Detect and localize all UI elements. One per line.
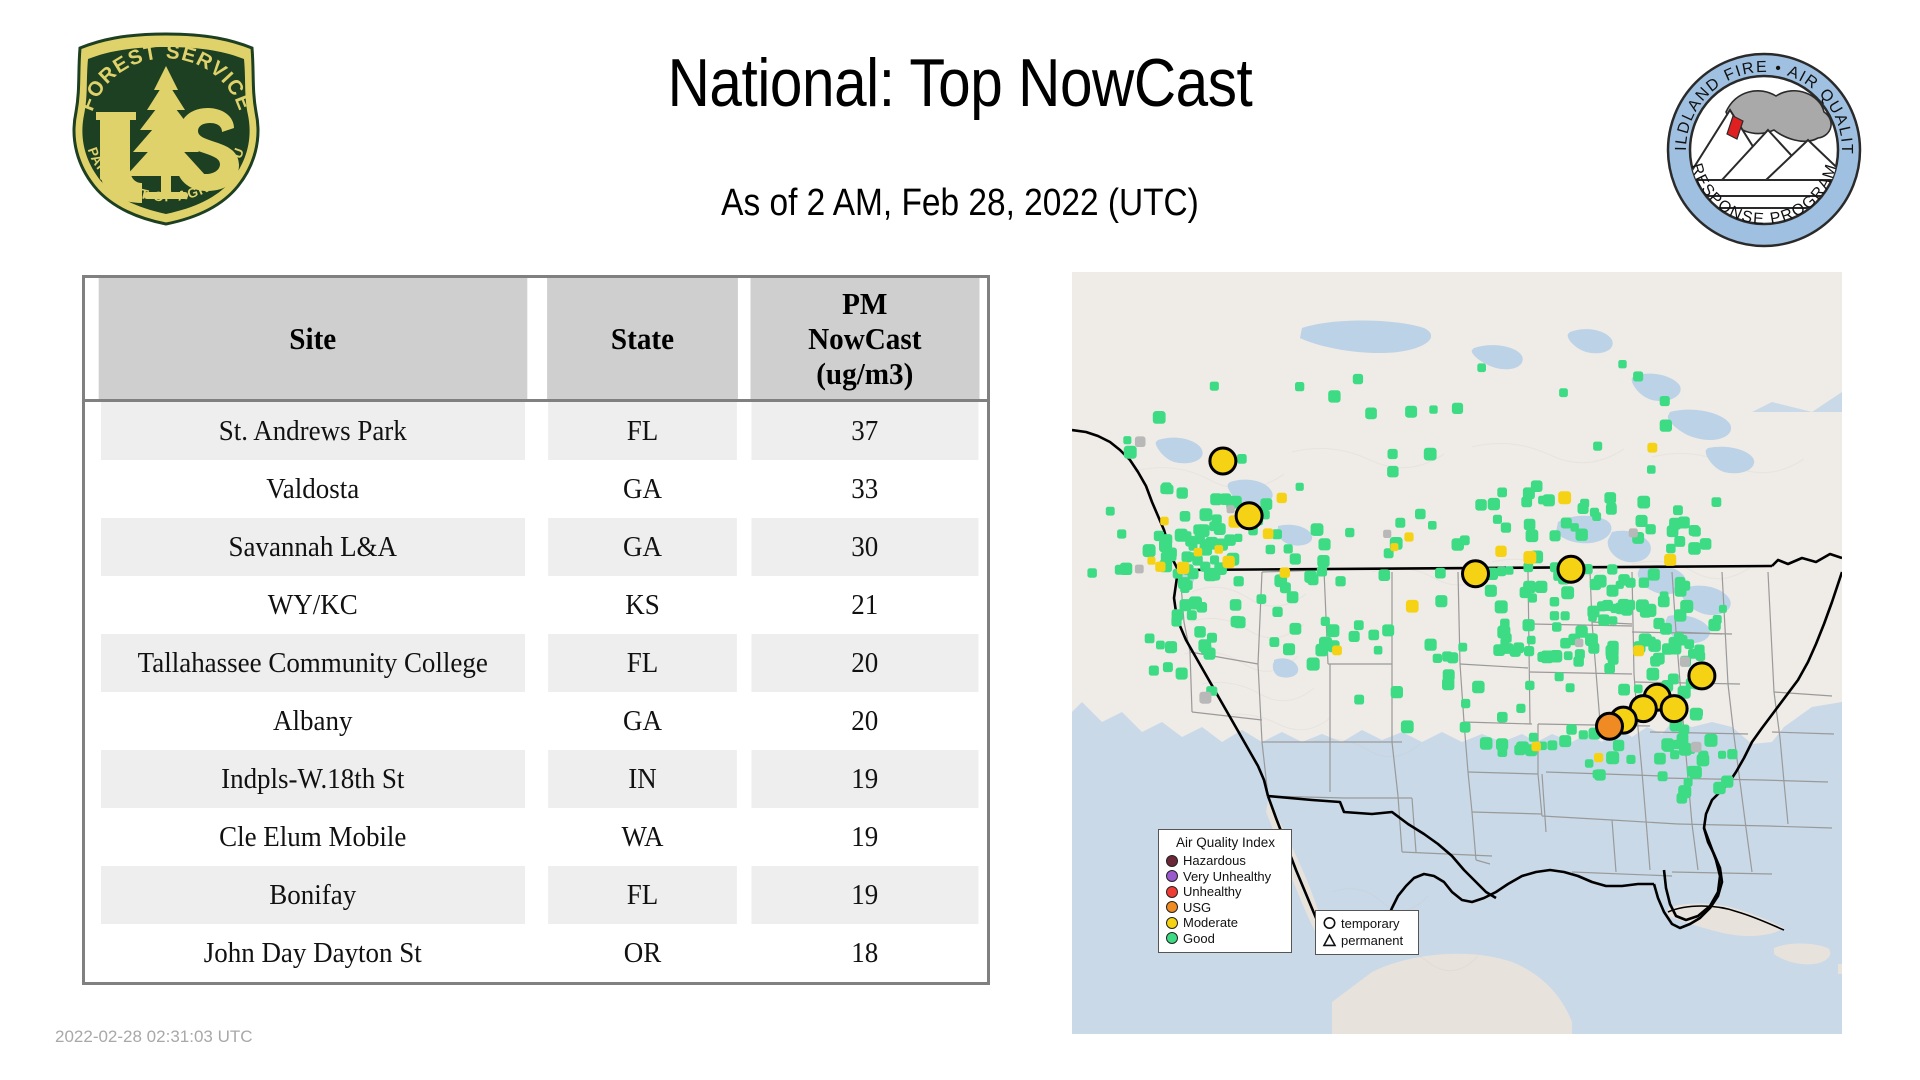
- monitor-dot-moderate[interactable]: [1147, 557, 1155, 565]
- monitor-dot-good[interactable]: [1477, 363, 1486, 372]
- monitor-dot-good[interactable]: [1561, 518, 1572, 529]
- monitor-dot-good[interactable]: [1606, 645, 1619, 658]
- monitor-dot-good[interactable]: [1391, 686, 1403, 698]
- monitor-dot-good[interactable]: [1177, 487, 1188, 498]
- monitor-dot-good[interactable]: [1573, 656, 1584, 667]
- monitor-dot-good[interactable]: [1559, 388, 1568, 397]
- monitor-dot-good[interactable]: [1505, 566, 1514, 575]
- monitor-dot-moderate[interactable]: [1332, 646, 1342, 656]
- monitor-dot-good[interactable]: [1647, 637, 1656, 646]
- monitor-dot-good[interactable]: [1606, 504, 1617, 515]
- aqi-monitor-map[interactable]: Air Quality Index Hazardous Very Unhealt…: [1072, 272, 1842, 1034]
- aqi-legend-title: Air Quality Index: [1166, 835, 1285, 850]
- monitor-dot-good[interactable]: [1547, 740, 1557, 750]
- monitor-dot-good[interactable]: [1149, 666, 1159, 676]
- monitor-dot-good[interactable]: [1452, 403, 1463, 414]
- good-swatch-icon: [1166, 932, 1178, 944]
- cell-value: 19: [752, 750, 978, 808]
- monitor-dot-good[interactable]: [1260, 498, 1272, 510]
- monitor-dot-good[interactable]: [1176, 668, 1188, 680]
- monitor-dot-good[interactable]: [1668, 674, 1679, 685]
- monitor-dot-good[interactable]: [1679, 743, 1692, 756]
- monitor-dot-good[interactable]: [1495, 600, 1508, 613]
- monitor-dot-good[interactable]: [1234, 576, 1244, 586]
- legend-label-good: Good: [1183, 932, 1215, 945]
- legend-label-moderate: Moderate: [1183, 916, 1238, 929]
- monitor-dot-good[interactable]: [1643, 604, 1656, 617]
- monitor-dot-good[interactable]: [1312, 524, 1324, 536]
- monitor-dot-good[interactable]: [1535, 581, 1547, 593]
- monitor-dot-good[interactable]: [1210, 382, 1219, 391]
- monitor-dot-good[interactable]: [1636, 515, 1648, 527]
- usg-swatch-icon: [1166, 901, 1178, 913]
- monitor-dot-good[interactable]: [1180, 511, 1191, 522]
- monitor-dot-good[interactable]: [1428, 521, 1437, 530]
- monitor-dot-offline[interactable]: [1227, 505, 1235, 513]
- monitor-dot-good[interactable]: [1721, 776, 1733, 788]
- monitor-dot-good[interactable]: [1593, 442, 1602, 451]
- monitor-dot-good[interactable]: [1529, 733, 1538, 742]
- monitor-dot-good[interactable]: [1521, 497, 1532, 508]
- monitor-dot-good[interactable]: [1537, 652, 1547, 662]
- monitor-dot-moderate[interactable]: [1523, 551, 1536, 564]
- monitor-dot-good[interactable]: [1661, 738, 1674, 751]
- monitor-dot-good[interactable]: [1576, 529, 1588, 541]
- monitor-dot-good[interactable]: [1382, 624, 1394, 636]
- monitor-dot-good[interactable]: [1501, 523, 1511, 533]
- monitor-dot-good[interactable]: [1117, 529, 1126, 538]
- monitor-dot-good[interactable]: [1230, 599, 1242, 611]
- monitor-dot-good[interactable]: [1447, 652, 1458, 663]
- monitor-dot-offline[interactable]: [1135, 565, 1144, 574]
- monitor-dot-good[interactable]: [1516, 704, 1525, 713]
- column-header-pm-line3: (ug/m3): [751, 356, 980, 391]
- legend-label-usg: USG: [1183, 901, 1211, 914]
- monitor-dot-good[interactable]: [1675, 577, 1686, 588]
- monitor-dot-good[interactable]: [1194, 626, 1206, 638]
- column-header-site-label: Site: [289, 321, 336, 356]
- monitor-dot-good[interactable]: [1401, 720, 1414, 733]
- monitor-dot-good[interactable]: [1626, 578, 1636, 588]
- monitor-dot-good[interactable]: [1691, 526, 1701, 536]
- monitor-dot-good[interactable]: [1604, 663, 1615, 674]
- monitor-dot-good[interactable]: [1087, 568, 1097, 578]
- monitor-dot-good[interactable]: [1667, 525, 1679, 537]
- monitor-dot-moderate[interactable]: [1633, 645, 1644, 656]
- monitor-dot-good[interactable]: [1368, 630, 1379, 641]
- monitor-dot-offline[interactable]: [1691, 742, 1702, 753]
- table-row: Tallahassee Community College FL 20: [85, 634, 987, 692]
- monitor-dot-good[interactable]: [1180, 599, 1192, 611]
- monitor-dot-good[interactable]: [1461, 699, 1470, 708]
- monitor-dot-good[interactable]: [1405, 406, 1417, 418]
- monitor-dot-good[interactable]: [1480, 737, 1493, 750]
- cell-site: Tallahassee Community College: [101, 634, 525, 692]
- monitor-dot-good[interactable]: [1349, 631, 1360, 642]
- page-title: National: Top NowCast: [134, 48, 1785, 119]
- monitor-dot-good[interactable]: [1493, 515, 1502, 524]
- monitor-dot-good[interactable]: [1564, 651, 1573, 660]
- monitor-dot-good[interactable]: [1307, 658, 1320, 671]
- monitor-dot-good[interactable]: [1194, 526, 1203, 535]
- monitor-dot-good[interactable]: [1295, 382, 1304, 391]
- monitor-dot-good[interactable]: [1552, 622, 1562, 632]
- monitor-dot-good[interactable]: [1555, 672, 1564, 681]
- monitor-dot-good[interactable]: [1561, 586, 1574, 599]
- monitor-dot-good[interactable]: [1153, 411, 1166, 424]
- monitor-dot-good[interactable]: [1488, 498, 1500, 510]
- monitor-dot-good[interactable]: [1684, 778, 1693, 787]
- monitor-dot-good[interactable]: [1124, 446, 1137, 459]
- monitor-dot-good[interactable]: [1354, 695, 1364, 705]
- monitor-dot-good[interactable]: [1566, 683, 1575, 692]
- monitor-dot-good[interactable]: [1650, 656, 1659, 665]
- monitor-dot-good[interactable]: [1315, 644, 1328, 657]
- monitor-dot-offline[interactable]: [1383, 530, 1391, 538]
- monitor-dot-good[interactable]: [1606, 751, 1619, 764]
- table-row: WY/KC KS 21: [85, 576, 987, 634]
- monitor-dot-moderate[interactable]: [1194, 548, 1203, 557]
- monitor-dot-moderate[interactable]: [1594, 753, 1603, 762]
- monitor-dot-good[interactable]: [1674, 536, 1685, 547]
- cell-state: FL: [548, 634, 737, 692]
- monitor-dot-good[interactable]: [1335, 576, 1345, 586]
- monitor-dot-moderate[interactable]: [1263, 528, 1274, 539]
- monitor-dot-good[interactable]: [1182, 551, 1193, 562]
- very-unhealthy-swatch-icon: [1166, 870, 1178, 882]
- monitor-dot-good[interactable]: [1458, 643, 1467, 652]
- monitor-dot-good[interactable]: [1272, 529, 1282, 539]
- monitor-dot-good[interactable]: [1523, 619, 1535, 631]
- monitor-dot-good[interactable]: [1550, 530, 1561, 541]
- monitor-dot-good[interactable]: [1143, 544, 1156, 557]
- monitor-dot-good[interactable]: [1161, 482, 1171, 492]
- monitor-dot-good[interactable]: [1424, 448, 1437, 461]
- monitor-dot-good[interactable]: [1319, 538, 1331, 550]
- monitor-dot-good[interactable]: [1670, 750, 1679, 759]
- highlighted-site-marker[interactable]: [1210, 448, 1236, 474]
- monitor-dot-good[interactable]: [1633, 371, 1643, 381]
- monitor-dot-good[interactable]: [1415, 509, 1426, 520]
- monitor-dot-good[interactable]: [1194, 534, 1205, 545]
- cell-value: 21: [752, 576, 978, 634]
- monitor-dot-good[interactable]: [1328, 390, 1340, 402]
- monitor-dot-good[interactable]: [1607, 564, 1617, 574]
- monitor-dot-good[interactable]: [1497, 488, 1507, 498]
- cell-value: 19: [752, 866, 978, 924]
- monitor-dot-good[interactable]: [1106, 507, 1115, 516]
- monitor-dot-good[interactable]: [1115, 565, 1125, 575]
- monitor-dot-good[interactable]: [1646, 524, 1656, 534]
- column-header-pm-nowcast: PM NowCast (ug/m3): [751, 278, 980, 401]
- monitor-dot-good[interactable]: [1145, 634, 1155, 644]
- column-header-pm-line2: NowCast: [751, 321, 980, 356]
- monitor-dot-good[interactable]: [1602, 600, 1613, 611]
- monitor-dot-good[interactable]: [1690, 708, 1703, 721]
- monitor-dot-good[interactable]: [1598, 614, 1610, 626]
- monitor-dot-moderate[interactable]: [1404, 532, 1413, 541]
- monitor-dot-good[interactable]: [1637, 496, 1650, 509]
- monitor-dot-good[interactable]: [1296, 483, 1304, 491]
- monitor-dot-good[interactable]: [1609, 616, 1618, 625]
- monitor-dot-moderate[interactable]: [1280, 567, 1290, 577]
- monitor-dot-good[interactable]: [1234, 534, 1242, 542]
- triangle-marker-icon: [1322, 933, 1337, 948]
- monitor-dot-good[interactable]: [1660, 396, 1670, 406]
- legend-item-temporary: temporary: [1322, 915, 1413, 932]
- monitor-dot-good[interactable]: [1524, 519, 1536, 531]
- highlighted-site-marker[interactable]: [1597, 713, 1623, 739]
- table-row: Cle Elum Mobile WA 19: [85, 808, 987, 866]
- hazardous-swatch-icon: [1166, 855, 1178, 867]
- monitor-dot-good[interactable]: [1460, 722, 1471, 733]
- monitor-dot-good[interactable]: [1503, 643, 1514, 654]
- monitor-dot-good[interactable]: [1387, 466, 1399, 478]
- legend-item-very-unhealthy: Very Unhealthy: [1166, 869, 1285, 885]
- monitor-dot-good[interactable]: [1231, 616, 1243, 628]
- monitor-dot-good[interactable]: [1187, 610, 1197, 620]
- monitor-dot-good[interactable]: [1214, 523, 1226, 535]
- monitor-dot-good[interactable]: [1165, 641, 1177, 653]
- monitor-dot-moderate[interactable]: [1390, 543, 1398, 551]
- monitor-dot-good[interactable]: [1175, 529, 1188, 542]
- monitor-dot-good[interactable]: [1647, 465, 1656, 474]
- monitor-dot-good[interactable]: [1513, 642, 1524, 653]
- monitor-dot-good[interactable]: [1680, 600, 1693, 613]
- monitor-dot-good[interactable]: [1435, 595, 1447, 607]
- monitor-dot-moderate[interactable]: [1495, 546, 1506, 557]
- monitor-dot-good[interactable]: [1527, 636, 1536, 645]
- monitor-dot-good[interactable]: [1443, 669, 1455, 681]
- monitor-dot-moderate[interactable]: [1406, 600, 1419, 613]
- monitor-dot-good[interactable]: [1697, 754, 1710, 767]
- monitor-dot-good[interactable]: [1452, 538, 1465, 551]
- monitor-dot-good[interactable]: [1345, 528, 1354, 537]
- monitor-dot-good[interactable]: [1625, 600, 1636, 611]
- monitor-dot-good[interactable]: [1497, 712, 1508, 723]
- monitor-dot-good[interactable]: [1550, 611, 1559, 620]
- monitor-dot-good[interactable]: [1198, 639, 1211, 652]
- monitor-dot-good[interactable]: [1317, 555, 1329, 567]
- monitor-dot-good[interactable]: [1321, 617, 1330, 626]
- monitor-dot-moderate[interactable]: [1664, 554, 1676, 566]
- monitor-dot-good[interactable]: [1647, 668, 1660, 681]
- monitor-dot-good[interactable]: [1579, 730, 1588, 739]
- monitor-dot-good[interactable]: [1317, 566, 1327, 576]
- monitor-dot-moderate[interactable]: [1558, 491, 1571, 504]
- monitor-dot-good[interactable]: [1514, 744, 1525, 755]
- monitor-dot-good[interactable]: [1354, 620, 1364, 630]
- monitor-dot-good[interactable]: [1677, 635, 1688, 646]
- monitor-dot-good[interactable]: [1200, 508, 1213, 521]
- monitor-dot-good[interactable]: [1700, 538, 1712, 550]
- monitor-dot-good[interactable]: [1388, 449, 1398, 459]
- monitor-dot-good[interactable]: [1538, 496, 1547, 505]
- monitor-dot-good[interactable]: [1585, 634, 1595, 644]
- highlighted-site-marker[interactable]: [1236, 503, 1262, 529]
- monitor-dot-good[interactable]: [1550, 597, 1560, 607]
- monitor-dot-good[interactable]: [1395, 518, 1405, 528]
- monitor-dot-good[interactable]: [1634, 685, 1643, 694]
- monitor-dot-offline[interactable]: [1680, 657, 1690, 667]
- monitor-dot-good[interactable]: [1666, 544, 1676, 554]
- cell-state: FL: [548, 401, 737, 461]
- monitor-dot-good[interactable]: [1425, 639, 1437, 651]
- monitor-dot-good[interactable]: [1123, 436, 1131, 444]
- highlighted-site-marker[interactable]: [1463, 561, 1489, 587]
- monitor-dot-good[interactable]: [1374, 646, 1383, 655]
- monitor-dot-good[interactable]: [1162, 534, 1173, 545]
- monitor-dot-good[interactable]: [1365, 408, 1377, 420]
- monitor-dot-good[interactable]: [1658, 771, 1668, 781]
- monitor-dot-good[interactable]: [1288, 594, 1298, 604]
- monitor-dot-good[interactable]: [1379, 569, 1391, 581]
- monitor-dot-good[interactable]: [1272, 607, 1282, 617]
- monitor-dot-offline[interactable]: [1199, 692, 1211, 704]
- legend-item-unhealthy: Unhealthy: [1166, 884, 1285, 900]
- table-row: Savannah L&A GA 30: [85, 518, 987, 576]
- monitor-dot-good[interactable]: [1497, 567, 1507, 577]
- monitor-dot-offline[interactable]: [1135, 436, 1146, 447]
- monitor-dot-moderate[interactable]: [1177, 562, 1189, 574]
- monitor-dot-good[interactable]: [1719, 605, 1727, 613]
- aqi-legend: Air Quality Index Hazardous Very Unhealt…: [1158, 829, 1292, 953]
- monitor-dot-good[interactable]: [1592, 512, 1601, 521]
- monitor-dot-good[interactable]: [1604, 492, 1616, 504]
- monitor-dot-good[interactable]: [1688, 542, 1701, 555]
- monitor-dot-good[interactable]: [1327, 624, 1340, 637]
- cell-site: Bonifay: [101, 866, 525, 924]
- monitor-dot-good[interactable]: [1607, 585, 1619, 597]
- monitor-dot-good[interactable]: [1594, 769, 1605, 780]
- highlighted-site-marker[interactable]: [1689, 663, 1715, 689]
- monitor-dot-good[interactable]: [1156, 641, 1165, 650]
- monitor-dot-good[interactable]: [1531, 480, 1543, 492]
- monitor-dot-good[interactable]: [1257, 594, 1267, 604]
- monitor-dot-good[interactable]: [1472, 681, 1485, 694]
- monitor-dot-good[interactable]: [1290, 623, 1302, 635]
- monitor-dot-moderate[interactable]: [1160, 517, 1169, 526]
- cell-site: Savannah L&A: [101, 518, 525, 576]
- cell-site: Indpls-W.18th St: [101, 750, 525, 808]
- legend-label-unhealthy: Unhealthy: [1183, 885, 1242, 898]
- monitor-dot-good[interactable]: [1654, 753, 1666, 765]
- monitor-dot-good[interactable]: [1290, 553, 1301, 564]
- monitor-dot-good[interactable]: [1304, 571, 1316, 583]
- legend-label-temporary: temporary: [1341, 917, 1400, 930]
- monitor-dot-good[interactable]: [1580, 499, 1589, 508]
- monitor-dot-good[interactable]: [1587, 606, 1599, 618]
- monitor-dot-good[interactable]: [1528, 593, 1537, 602]
- monitor-dot-good[interactable]: [1353, 374, 1363, 384]
- monitor-dot-moderate[interactable]: [1647, 443, 1657, 453]
- monitor-dot-good[interactable]: [1266, 545, 1276, 555]
- highlighted-site-marker[interactable]: [1661, 696, 1687, 722]
- monitor-dot-good[interactable]: [1269, 637, 1279, 647]
- monitor-dot-good[interactable]: [1166, 551, 1177, 562]
- cell-state: GA: [548, 518, 737, 576]
- monitor-dot-good[interactable]: [1708, 619, 1720, 631]
- monitor-dot-good[interactable]: [1429, 405, 1437, 413]
- cell-state: GA: [548, 460, 737, 518]
- monitor-dot-good[interactable]: [1284, 544, 1293, 553]
- monitor-dot-good[interactable]: [1704, 734, 1717, 747]
- cell-value: 20: [752, 692, 978, 750]
- monitor-dot-good[interactable]: [1283, 643, 1295, 655]
- highlighted-site-marker[interactable]: [1558, 556, 1584, 582]
- monitor-dot-good[interactable]: [1727, 749, 1737, 759]
- monitor-dot-good[interactable]: [1660, 420, 1672, 432]
- monitor-dot-good[interactable]: [1524, 646, 1534, 656]
- monitor-dot-good[interactable]: [1500, 619, 1510, 629]
- monitor-dot-good[interactable]: [1435, 568, 1446, 579]
- cell-site: WY/KC: [101, 576, 525, 634]
- monitor-dot-good[interactable]: [1561, 611, 1570, 620]
- monitor-dot-good[interactable]: [1550, 650, 1563, 663]
- monitor-dot-good[interactable]: [1526, 529, 1539, 542]
- monitor-dot-good[interactable]: [1594, 575, 1607, 588]
- monitor-dot-good[interactable]: [1475, 499, 1487, 511]
- cell-site: St. Andrews Park: [101, 401, 525, 461]
- monitor-dot-moderate[interactable]: [1155, 562, 1165, 572]
- cell-state: GA: [548, 692, 737, 750]
- legend-item-usg: USG: [1166, 900, 1285, 916]
- monitor-dot-good[interactable]: [1163, 662, 1173, 672]
- monitor-dot-good[interactable]: [1687, 766, 1698, 777]
- monitor-dot-good[interactable]: [1618, 360, 1626, 368]
- monitor-dot-good[interactable]: [1618, 684, 1630, 696]
- monitor-dot-moderate[interactable]: [1277, 493, 1287, 503]
- monitor-dot-moderate[interactable]: [1532, 742, 1541, 751]
- monitor-dot-good[interactable]: [1648, 569, 1660, 581]
- cell-value: 18: [752, 924, 978, 982]
- monitor-dot-good[interactable]: [1626, 755, 1635, 764]
- monitor-dot-good[interactable]: [1613, 740, 1624, 751]
- monitor-dot-offline[interactable]: [1575, 639, 1584, 648]
- monitor-dot-good[interactable]: [1718, 751, 1726, 759]
- monitor-dot-good[interactable]: [1566, 724, 1577, 735]
- top-nowcast-table: Site State PM NowCast (ug/m3) St. Andrew…: [82, 275, 990, 985]
- monitor-dot-good[interactable]: [1677, 793, 1688, 804]
- monitor-dot-good[interactable]: [1585, 759, 1594, 768]
- monitor-dot-good[interactable]: [1180, 584, 1189, 593]
- monitor-dot-good[interactable]: [1712, 497, 1722, 507]
- monitor-dot-good[interactable]: [1688, 649, 1698, 659]
- monitor-dot-good[interactable]: [1588, 643, 1599, 654]
- monitor-dot-good[interactable]: [1660, 623, 1672, 635]
- monitor-dot-good[interactable]: [1673, 505, 1683, 515]
- cell-site: Valdosta: [101, 460, 525, 518]
- monitor-dot-good[interactable]: [1560, 638, 1571, 649]
- monitor-dot-moderate[interactable]: [1223, 556, 1235, 568]
- legend-label-very-unhealthy: Very Unhealthy: [1183, 870, 1271, 883]
- monitor-dot-good[interactable]: [1212, 514, 1222, 524]
- monitor-dot-good[interactable]: [1237, 454, 1247, 464]
- monitor-dot-good[interactable]: [1639, 578, 1649, 588]
- monitor-dot-good[interactable]: [1498, 747, 1508, 757]
- monitor-dot-good[interactable]: [1678, 517, 1690, 529]
- monitor-dot-offline[interactable]: [1629, 528, 1638, 537]
- monitor-dot-good[interactable]: [1433, 654, 1442, 663]
- monitor-dot-good[interactable]: [1485, 585, 1497, 597]
- monitor-dot-good[interactable]: [1658, 596, 1670, 608]
- monitor-dot-good[interactable]: [1559, 735, 1571, 747]
- unhealthy-swatch-icon: [1166, 886, 1178, 898]
- cell-state: IN: [548, 750, 737, 808]
- table-header-row: Site State PM NowCast (ug/m3): [85, 278, 987, 401]
- monitor-dot-good[interactable]: [1525, 681, 1534, 690]
- monitor-dot-moderate[interactable]: [1215, 545, 1224, 554]
